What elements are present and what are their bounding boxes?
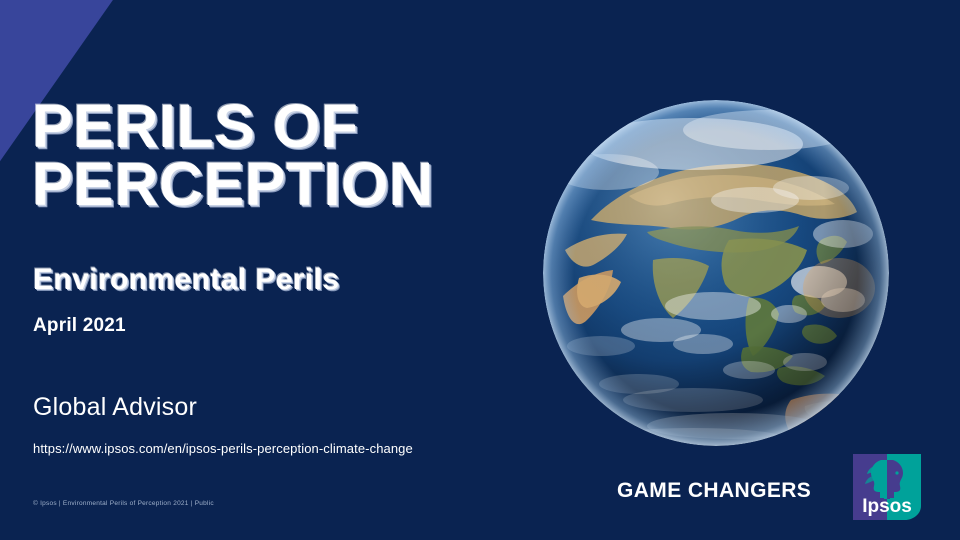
source-url-link[interactable]: https://www.ipsos.com/en/ipsos-perils-pe… <box>33 441 413 456</box>
earth-globe-image <box>543 100 889 446</box>
ipsos-wordmark: Ipsos <box>862 496 912 517</box>
title-line-2: PERCEPTION <box>32 156 552 214</box>
program-name: Global Advisor <box>33 393 197 422</box>
slide-subtitle: Environmental Perils <box>33 263 339 297</box>
title-line-1: PERILS OF <box>32 98 552 156</box>
ipsos-logo: Ipsos <box>851 452 923 522</box>
slide-main-title: PERILS OF PERCEPTION <box>32 98 552 214</box>
game-changers-tagline: GAME CHANGERS <box>617 479 811 503</box>
presentation-title-slide: PERILS OF PERCEPTION Environmental Peril… <box>0 0 960 540</box>
copyright-footer: © Ipsos | Environmental Perils of Percep… <box>33 500 214 507</box>
slide-date: April 2021 <box>33 315 126 337</box>
